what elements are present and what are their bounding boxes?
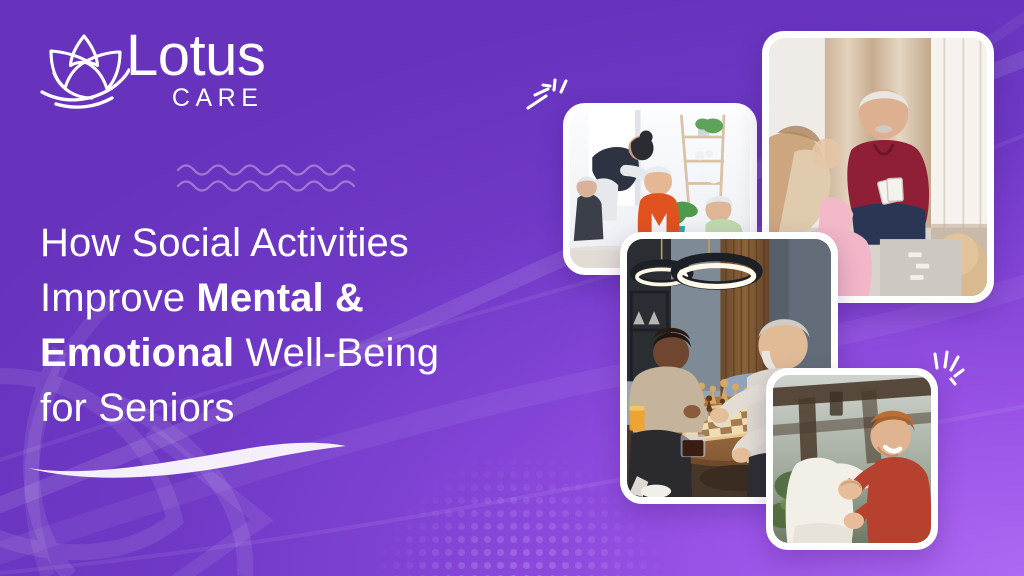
underline-swoosh [20,432,370,492]
headline-line-4: for Seniors [40,386,235,430]
brand-logo[interactable]: Lotus CARE [38,28,265,111]
photo-card-dancing-couple[interactable] [766,368,938,550]
brand-name-primary: Lotus [126,28,265,84]
headline-line-1: How Social Activities [40,221,409,265]
lotus-flower-icon [38,30,130,110]
headline-line-2-prefix: Improve [40,276,196,320]
brand-name-secondary: CARE [126,85,265,111]
brand-wordmark: Lotus CARE [126,28,265,111]
headline-line-3-suffix: Well-Being [234,331,439,375]
page-title: How Social Activities Improve Mental & E… [40,216,560,436]
banner-canvas: Lotus CARE How Social Activities Improve… [0,0,1024,576]
wavy-line-divider [176,158,376,198]
headline-line-3-bold: Emotional [40,331,234,375]
headline-line-2-bold: Mental & [196,276,363,320]
photo-dancing-couple [773,375,931,543]
